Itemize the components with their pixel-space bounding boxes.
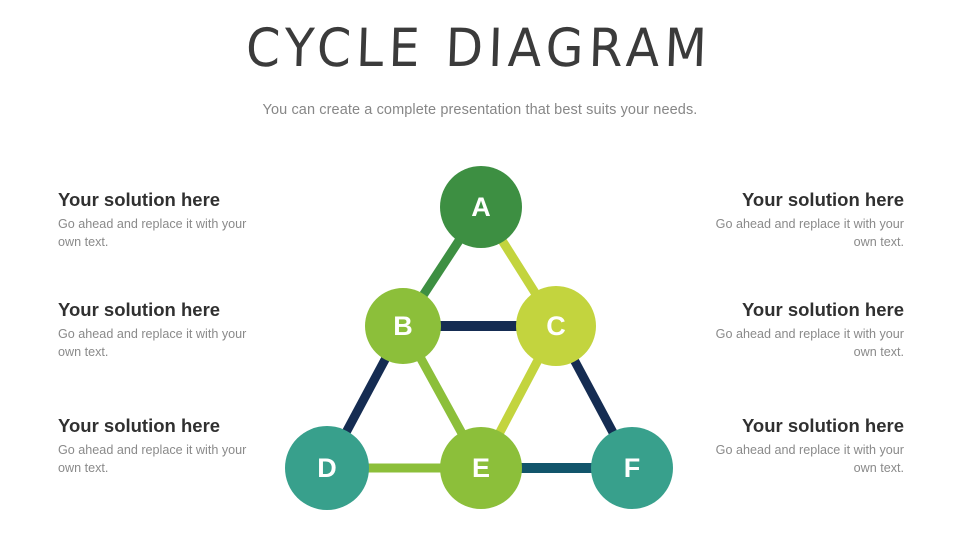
node-f[interactable]: F	[591, 427, 673, 509]
node-label-d: D	[317, 453, 337, 483]
cycle-diagram: ABCDEF	[0, 0, 960, 540]
node-c[interactable]: C	[516, 286, 596, 366]
slide-canvas: CYCLE DIAGRAM You can create a complete …	[0, 0, 960, 540]
node-d[interactable]: D	[285, 426, 369, 510]
node-label-f: F	[624, 453, 641, 483]
node-layer: ABCDEF	[285, 166, 673, 510]
node-b[interactable]: B	[365, 288, 441, 364]
node-e[interactable]: E	[440, 427, 522, 509]
node-label-a: A	[471, 192, 491, 222]
node-a[interactable]: A	[440, 166, 522, 248]
node-label-c: C	[546, 311, 566, 341]
node-label-e: E	[472, 453, 490, 483]
node-label-b: B	[393, 311, 413, 341]
